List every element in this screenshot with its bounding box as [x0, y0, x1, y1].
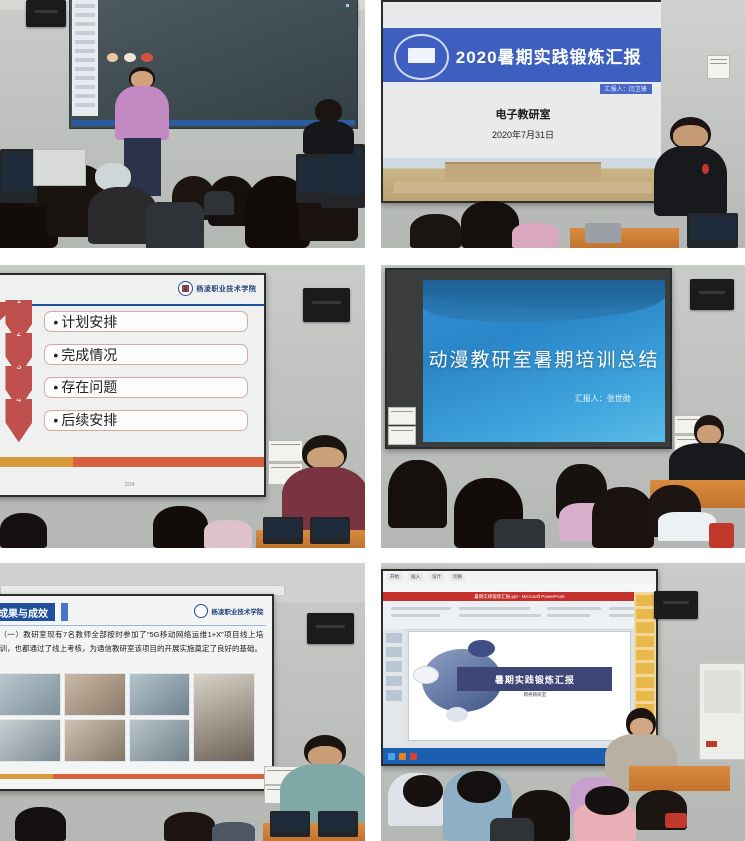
photo-cell-middle-right: 动漫教研室暑期培训总结 汇报人：张世勋 — [381, 265, 745, 548]
gallery-thumb — [0, 719, 61, 762]
agenda-slide-photo: 杨凌职业技术学院 1 •计划安排 2 •完成情况 — [0, 265, 365, 548]
photo-cell-top-right: 2020暑期实践锻炼汇报 汇报人：闫卫锋 电子教研室 2020年7月31日 — [381, 0, 745, 248]
slide-2020-report: 2020暑期实践锻炼汇报 汇报人：闫卫锋 电子教研室 2020年7月31日 — [383, 2, 663, 201]
air-conditioner — [699, 663, 745, 760]
photo-cell-bottom-right: 开始 插入 设计 切换 暑期实践锻炼汇报.ppt - Microsoft Pow… — [381, 563, 745, 841]
agenda-number: 4 — [5, 399, 32, 443]
qat-item[interactable]: 设计 — [429, 573, 444, 581]
gallery-thumb — [193, 673, 255, 762]
agenda-label: •计划安排 — [44, 311, 248, 331]
slide-page-marker: 2/24 — [0, 482, 264, 488]
section-header: 成果与成效 — [0, 603, 55, 620]
lectern — [650, 480, 745, 508]
agenda-label: •后续安排 — [44, 410, 248, 430]
slide-anime-training: 动漫教研室暑期培训总结 汇报人：张世勋 — [423, 280, 664, 441]
college-logo: 杨凌职业技术学院 — [178, 280, 256, 298]
projection-screen: 成果与成效 杨凌职业技术学院 （一）教研室现有7名教师全部按时参加了“5G移动网… — [0, 594, 274, 791]
lab-monitor — [0, 149, 37, 204]
slide-body-text: （一）教研室现有7名教师全部按时参加了“5G移动网络运维1+X”项目线上培训，也… — [0, 628, 263, 654]
projection-screen: 2020暑期实践锻炼汇报 汇报人：闫卫锋 电子教研室 2020年7月31日 — [381, 0, 665, 203]
presenter-figure — [285, 435, 365, 537]
agenda-text: 后续安排 — [61, 410, 117, 430]
ribbon[interactable] — [383, 601, 656, 629]
slide-subtitle: 网络教研室 — [457, 692, 612, 698]
firefox-icon[interactable] — [399, 753, 406, 760]
quick-access-toolbar[interactable]: 开始 插入 设计 切换 — [383, 571, 656, 585]
ceiling-speaker-icon — [654, 591, 698, 619]
agenda-item: 2 •完成情况 — [5, 341, 248, 367]
equipment-rack — [33, 149, 86, 186]
slide-canvas[interactable]: 暑期实践锻炼汇报 网络教研室 — [408, 631, 632, 741]
slide-results: 成果与成效 杨凌职业技术学院 （一）教研室现有7名教师全部按时参加了“5G移动网… — [0, 596, 272, 789]
gallery-thumb — [129, 673, 191, 716]
wps-icon[interactable] — [410, 753, 417, 760]
photo-cell-bottom-left: 成果与成效 杨凌职业技术学院 （一）教研室现有7名教师全部按时参加了“5G移动网… — [0, 563, 365, 841]
agenda-text: 完成情况 — [61, 345, 117, 365]
qat-item[interactable]: 开始 — [387, 573, 402, 581]
photo-collage: 2020暑期实践锻炼汇报 汇报人：闫卫锋 电子教研室 2020年7月31日 — [0, 0, 745, 841]
photo-gallery — [0, 673, 255, 762]
lecture-room-photo — [0, 0, 365, 248]
gallery-thumb — [64, 673, 126, 716]
gallery-thumb — [0, 673, 61, 716]
agenda-item: 3 •存在问题 — [5, 374, 248, 400]
qat-item[interactable]: 插入 — [408, 573, 423, 581]
slide-title: 动漫教研室暑期培训总结 — [423, 345, 664, 372]
ceiling-speaker-icon — [307, 613, 354, 644]
ceiling-speaker-icon — [303, 288, 350, 322]
agenda-label: •完成情况 — [44, 344, 248, 364]
slide-thumbnail-pane[interactable] — [383, 629, 405, 745]
wall-control-down[interactable] — [388, 426, 415, 445]
projection-screen: 动漫教研室暑期培训总结 汇报人：张世勋 — [385, 268, 673, 449]
blue-slide-photo: 动漫教研室暑期培训总结 汇报人：张世勋 — [381, 265, 745, 548]
qat-item[interactable]: 切换 — [450, 573, 465, 581]
slide-date: 2020年7月31日 — [383, 128, 663, 141]
speaker-figure — [285, 735, 365, 830]
slide-presenter: 汇报人：张世勋 — [575, 393, 631, 404]
wall-control-up[interactable] — [388, 407, 415, 426]
wall-control-panel[interactable] — [707, 55, 731, 79]
campus-building-image — [383, 158, 663, 202]
college-logo: 杨凌职业技术学院 — [194, 603, 263, 618]
lab-monitor — [296, 154, 329, 204]
gallery-thumb — [64, 719, 126, 762]
slide-presenter: 汇报人：闫卫锋 — [600, 84, 652, 94]
slide-title: 2020暑期实践锻炼汇报 — [456, 38, 652, 74]
seated-operator — [303, 99, 354, 154]
book-pen-icon — [394, 34, 448, 80]
agenda-text: 存在问题 — [61, 377, 117, 397]
results-slide-photo: 成果与成效 杨凌职业技术学院 （一）教研室现有7名教师全部按时参加了“5G移动网… — [0, 563, 365, 841]
agenda-text: 计划安排 — [61, 312, 117, 332]
college-name: 杨凌职业技术学院 — [196, 284, 256, 294]
title-slide-photo: 2020暑期实践锻炼汇报 汇报人：闫卫锋 电子教研室 2020年7月31日 — [381, 0, 745, 248]
ceiling-speaker-icon — [690, 279, 734, 310]
window-title-bar: 暑期实践锻炼汇报.ppt - Microsoft PowerPoint — [383, 592, 656, 602]
browser-icon[interactable] — [388, 753, 395, 760]
slide-agenda: 杨凌职业技术学院 1 •计划安排 2 •完成情况 — [0, 275, 264, 495]
slide-department: 电子教研室 — [383, 106, 663, 122]
college-emblem-icon — [178, 281, 193, 296]
lectern — [629, 766, 731, 791]
photo-cell-middle-left: 杨凌职业技术学院 1 •计划安排 2 •完成情况 — [0, 265, 365, 548]
presentation-sidebar — [72, 0, 98, 116]
agenda-item: 4 •后续安排 — [5, 407, 248, 433]
projection-screen: 杨凌职业技术学院 1 •计划安排 2 •完成情况 — [0, 273, 266, 497]
college-emblem-icon — [194, 604, 208, 618]
lecturer-figure — [113, 67, 171, 196]
agenda-item: 1 •计划安排 — [5, 308, 248, 334]
presenter-figure — [654, 117, 727, 216]
presenter-figure — [676, 415, 742, 489]
powerpoint-editing-photo: 开始 插入 设计 切换 暑期实践锻炼汇报.ppt - Microsoft Pow… — [381, 563, 745, 841]
ceiling-speaker-icon — [26, 0, 66, 27]
slide-title: 暑期实践锻炼汇报 — [457, 667, 612, 691]
agenda-list: 1 •计划安排 2 •完成情况 3 •存在问题 — [5, 308, 248, 433]
photo-cell-top-left — [0, 0, 365, 248]
gallery-thumb — [129, 719, 191, 762]
agenda-label: •存在问题 — [44, 377, 248, 397]
college-name: 杨凌职业技术学院 — [211, 606, 263, 616]
